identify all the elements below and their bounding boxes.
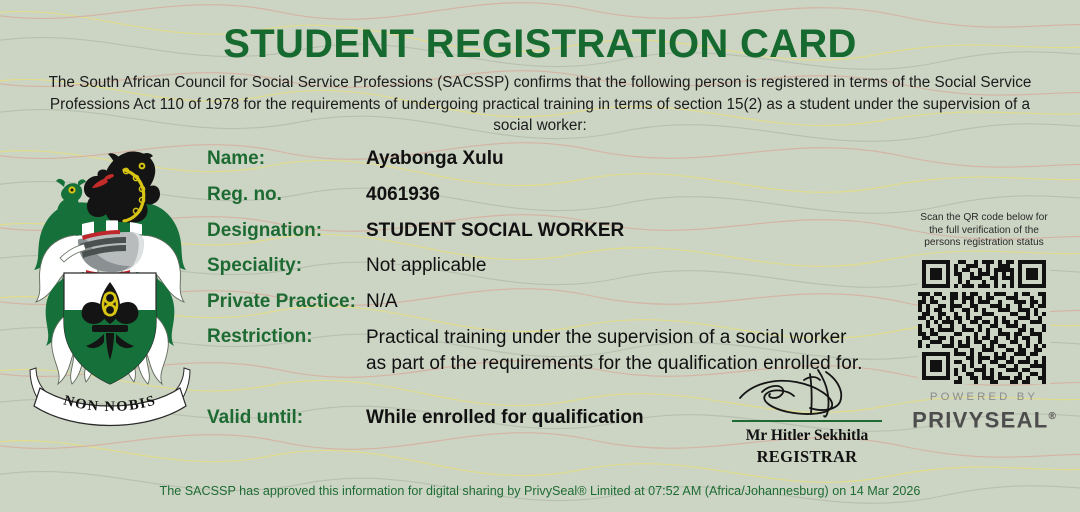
qr-caption-line-3: persons registration status	[896, 237, 1072, 250]
registrar-name: Mr Hitler Sekhitla	[722, 426, 892, 446]
qr-caption-line-2: the full verification of the	[896, 225, 1072, 238]
registrar-role: REGISTRAR	[722, 446, 892, 467]
label-name: Name:	[207, 148, 265, 170]
qr-caption: Scan the QR code below for the full veri…	[896, 212, 1072, 250]
value-speciality: Not applicable	[366, 255, 486, 277]
label-restriction: Restriction:	[207, 326, 313, 348]
restriction-line-1: Practical training under the supervision…	[366, 325, 886, 351]
value-private-practice: N/A	[366, 291, 398, 313]
value-designation: STUDENT SOCIAL WORKER	[366, 220, 624, 242]
qr-code[interactable]	[918, 260, 1050, 384]
value-name: Ayabonga Xulu	[366, 148, 504, 170]
page-title: STUDENT REGISTRATION CARD	[0, 22, 1080, 67]
label-reg-no: Reg. no.	[207, 184, 282, 206]
signature-block: Mr Hitler Sekhitla REGISTRAR	[722, 366, 892, 467]
qr-verification-block: Scan the QR code below for the full veri…	[896, 212, 1072, 432]
privyseal-branding: POWERED BY PRIVYSEAL®	[896, 390, 1072, 432]
value-reg-no: 4061936	[366, 184, 440, 206]
signature-line	[732, 420, 882, 422]
intro-paragraph: The South African Council for Social Ser…	[30, 72, 1050, 137]
privyseal-wordmark: PRIVYSEAL®	[896, 404, 1072, 432]
registered-mark-icon: ®	[1049, 411, 1056, 422]
qr-caption-line-1: Scan the QR code below for	[896, 212, 1072, 225]
label-speciality: Speciality:	[207, 255, 302, 277]
lion-crest	[56, 152, 160, 225]
sacssp-coat-of-arms: NON NOBIS	[20, 140, 200, 432]
powered-by-label: POWERED BY	[896, 390, 1072, 404]
value-valid-until: While enrolled for qualification	[366, 407, 644, 429]
registrar-signature-icon	[722, 366, 892, 420]
privyseal-name: PRIVYSEAL	[912, 407, 1048, 432]
label-valid-until: Valid until:	[207, 407, 303, 429]
label-designation: Designation:	[207, 220, 322, 242]
student-registration-card: STUDENT REGISTRATION CARD The South Afri…	[0, 0, 1080, 512]
approval-footer: The SACSSP has approved this information…	[0, 484, 1080, 498]
label-private-practice: Private Practice:	[207, 291, 356, 313]
